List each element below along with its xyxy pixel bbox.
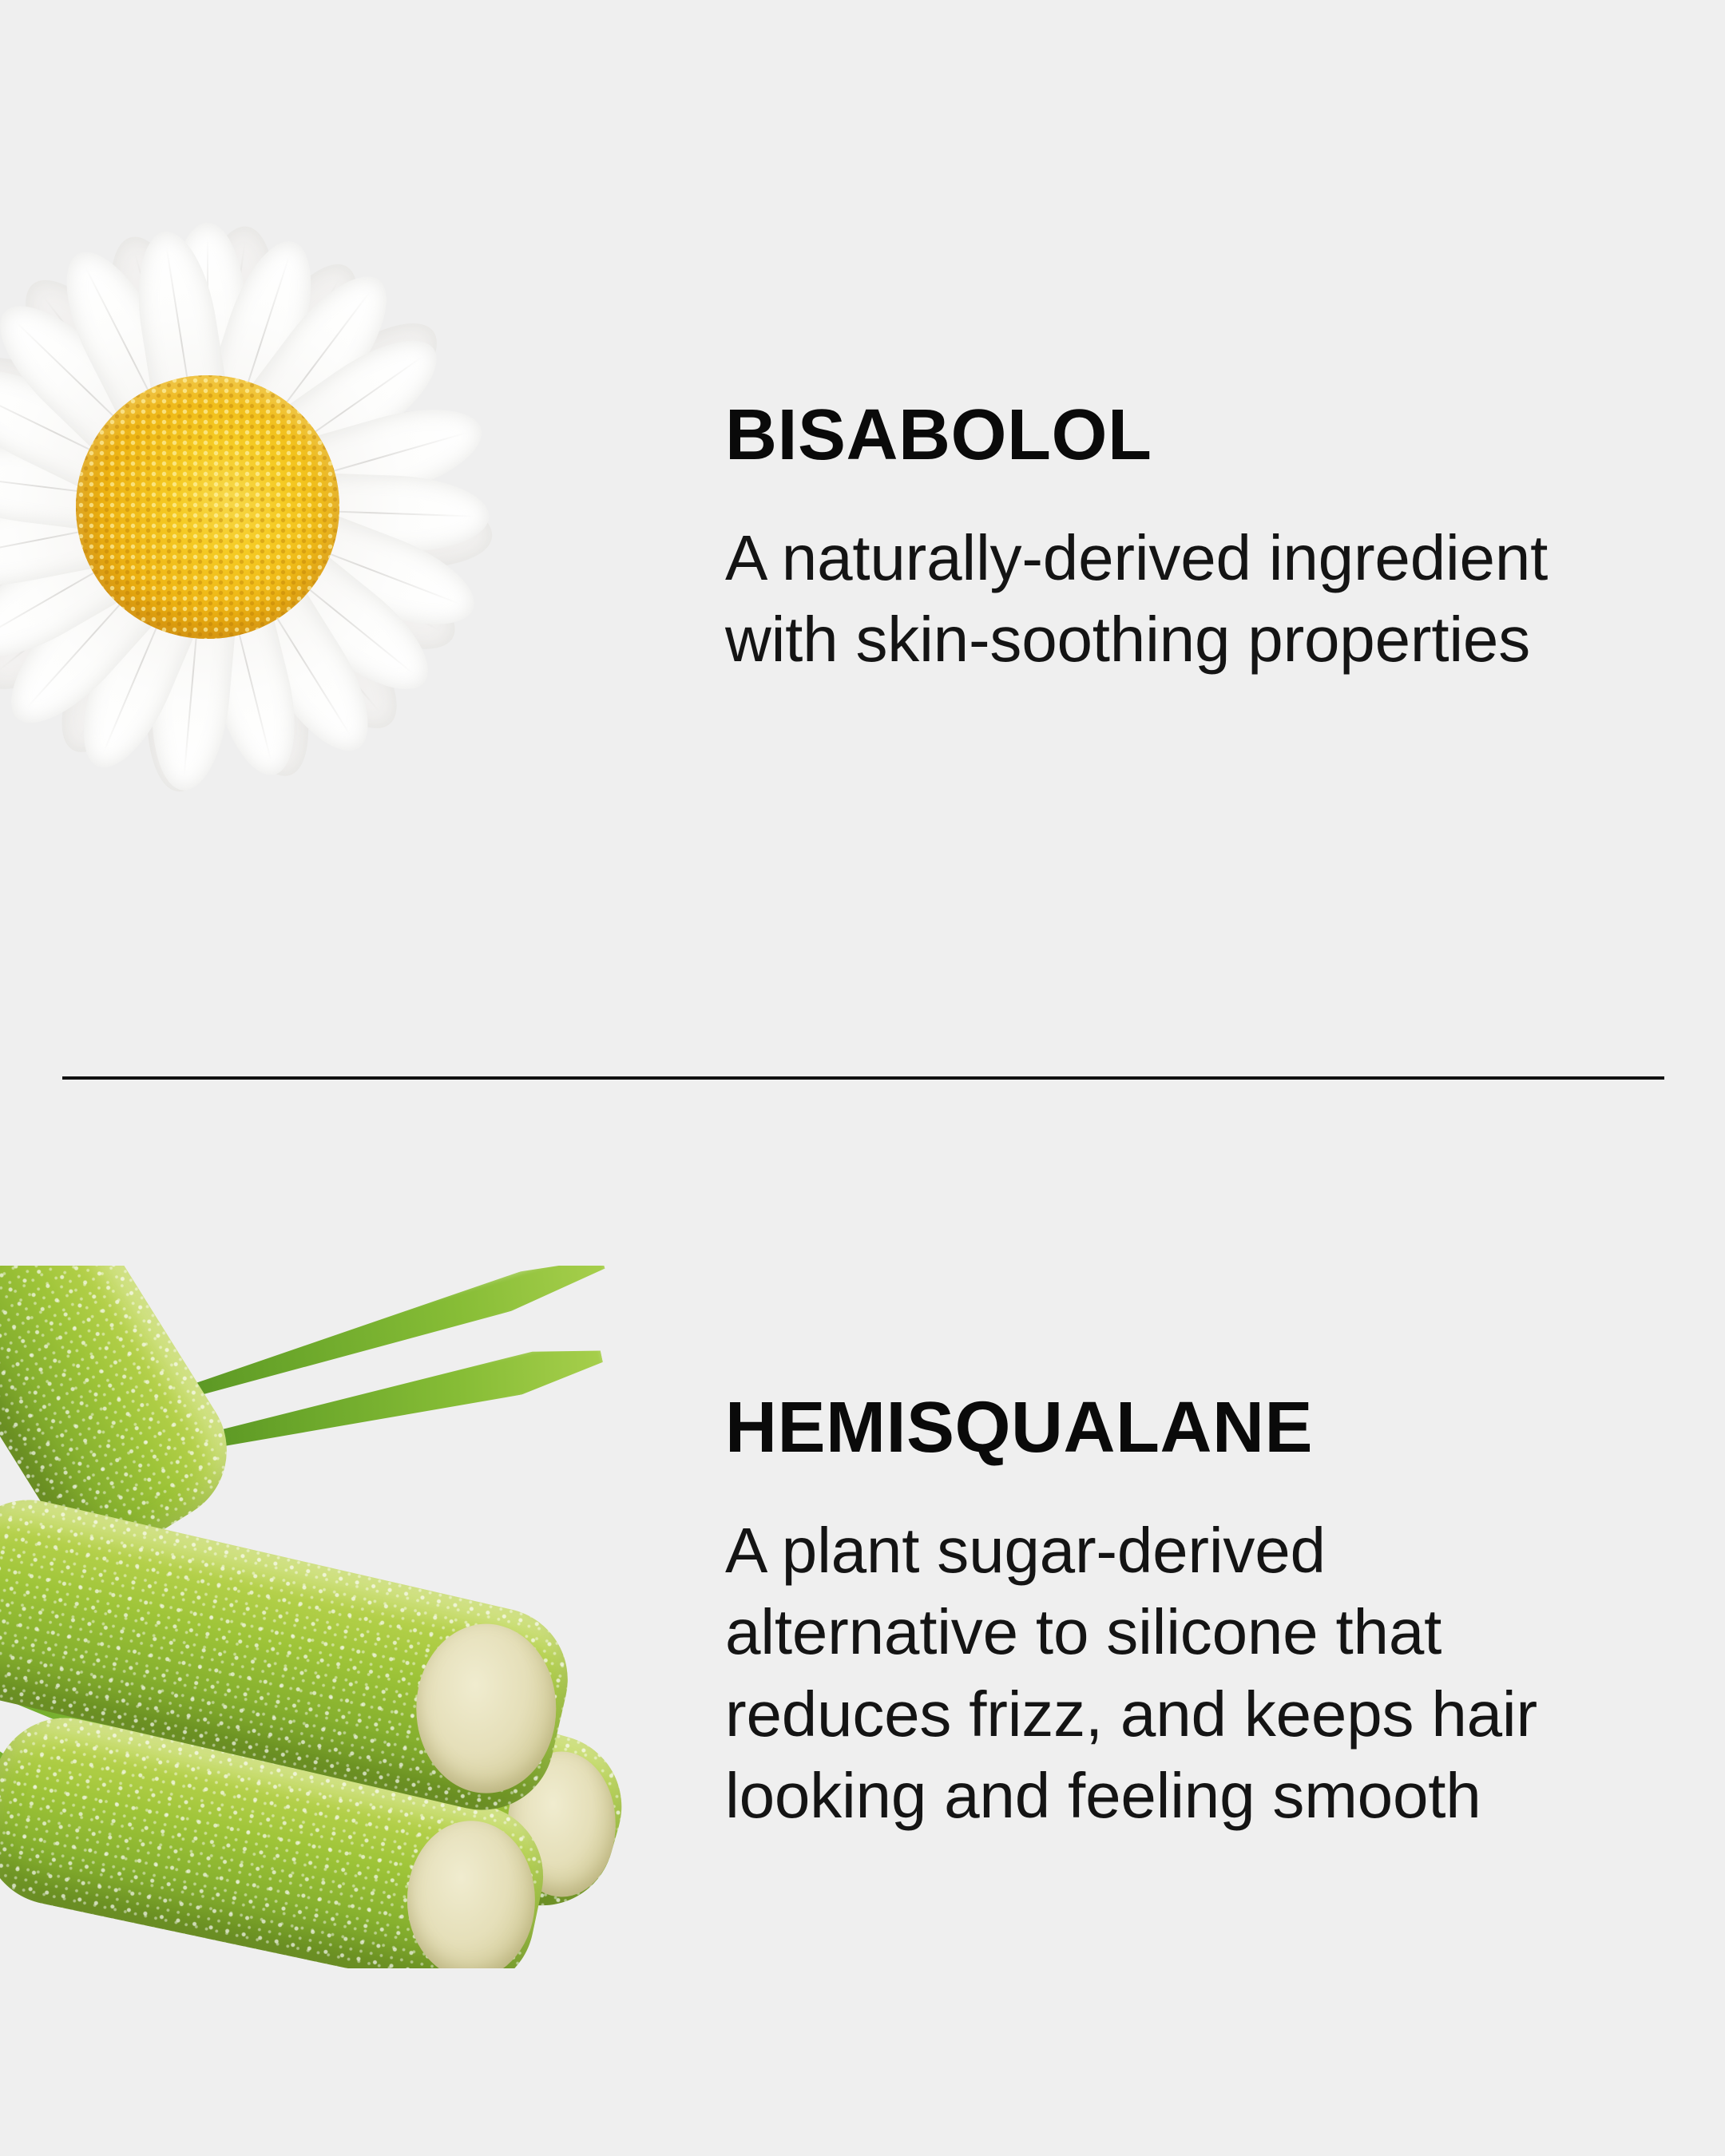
ingredient-description-hemisqualane: A plant sugar-derived alternative to sil… (725, 1510, 1588, 1837)
bisabolol-copy-block: BISABOLOL A naturally-derived ingredient… (725, 399, 1588, 681)
daisy-stage (0, 88, 623, 926)
ingredient-title-bisabolol: BISABOLOL (725, 399, 1588, 471)
daisy-center-texture (76, 375, 339, 639)
ingredient-description-bisabolol: A naturally-derived ingredient with skin… (725, 517, 1588, 681)
sugarcane-image (0, 1266, 655, 1968)
ingredient-section-bisabolol: BISABOLOL A naturally-derived ingredient… (0, 0, 1725, 1078)
hemisqualane-copy-block: HEMISQUALANE A plant sugar-derived alter… (725, 1392, 1588, 1837)
sugarcane-cut-end (407, 1821, 535, 1968)
ingredient-panel: BISABOLOL A naturally-derived ingredient… (0, 0, 1725, 2156)
ingredient-title-hemisqualane: HEMISQUALANE (725, 1392, 1588, 1464)
daisy-center-disc (76, 375, 339, 639)
daisy-flower-image (0, 88, 623, 926)
ingredient-section-hemisqualane: HEMISQUALANE A plant sugar-derived alter… (0, 1079, 1725, 2156)
sugarcane-stage (0, 1266, 655, 1968)
sugarcane-cut-end (416, 1624, 556, 1793)
